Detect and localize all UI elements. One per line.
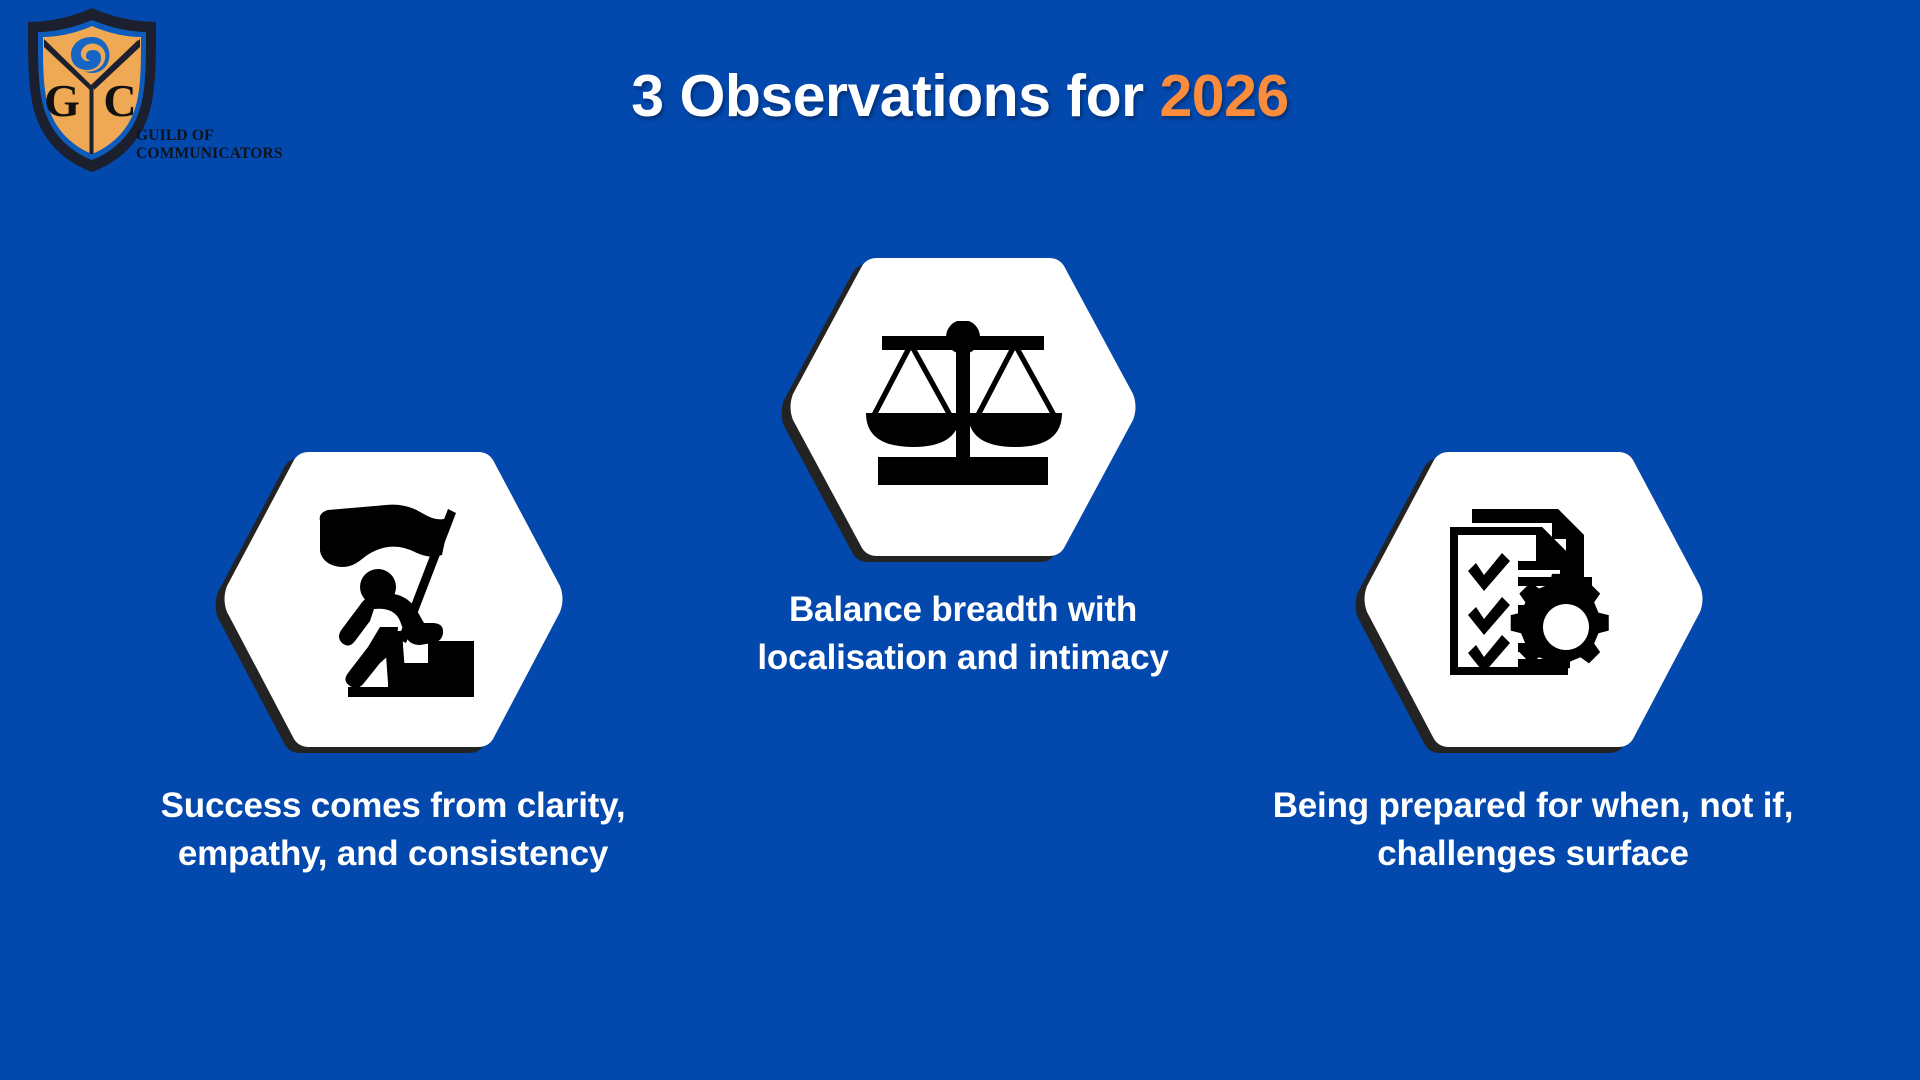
observation-caption: Balance breadth with localisation and in…: [728, 586, 1198, 682]
observation-caption: Success comes from clarity, empathy, and…: [158, 782, 628, 878]
page-title-prefix: 3 Observations for: [631, 63, 1159, 129]
hexagon-tile: [1361, 446, 1706, 753]
hexagon-tile: [221, 446, 566, 753]
page-title-year: 2026: [1159, 63, 1288, 129]
brand-wordmark-line-2: COMMUNICATORS: [136, 145, 311, 163]
observation-card-1: Success comes from clarity, empathy, and…: [113, 446, 673, 878]
person-climbing-stairs-with-flag-icon: [302, 503, 484, 697]
brand-wordmark: GUILD OF COMMUNICATORS: [136, 127, 311, 164]
checklist-document-gear-icon: [1440, 505, 1626, 695]
observation-caption: Being prepared for when, not if, challen…: [1268, 782, 1798, 878]
page-title: 3 Observations for 2026: [0, 62, 1920, 130]
observation-card-3: Being prepared for when, not if, challen…: [1253, 446, 1813, 878]
hexagon-tile: [787, 252, 1139, 562]
balance-scales-icon: [864, 321, 1062, 493]
observation-card-2: Balance breadth with localisation and in…: [693, 252, 1233, 682]
